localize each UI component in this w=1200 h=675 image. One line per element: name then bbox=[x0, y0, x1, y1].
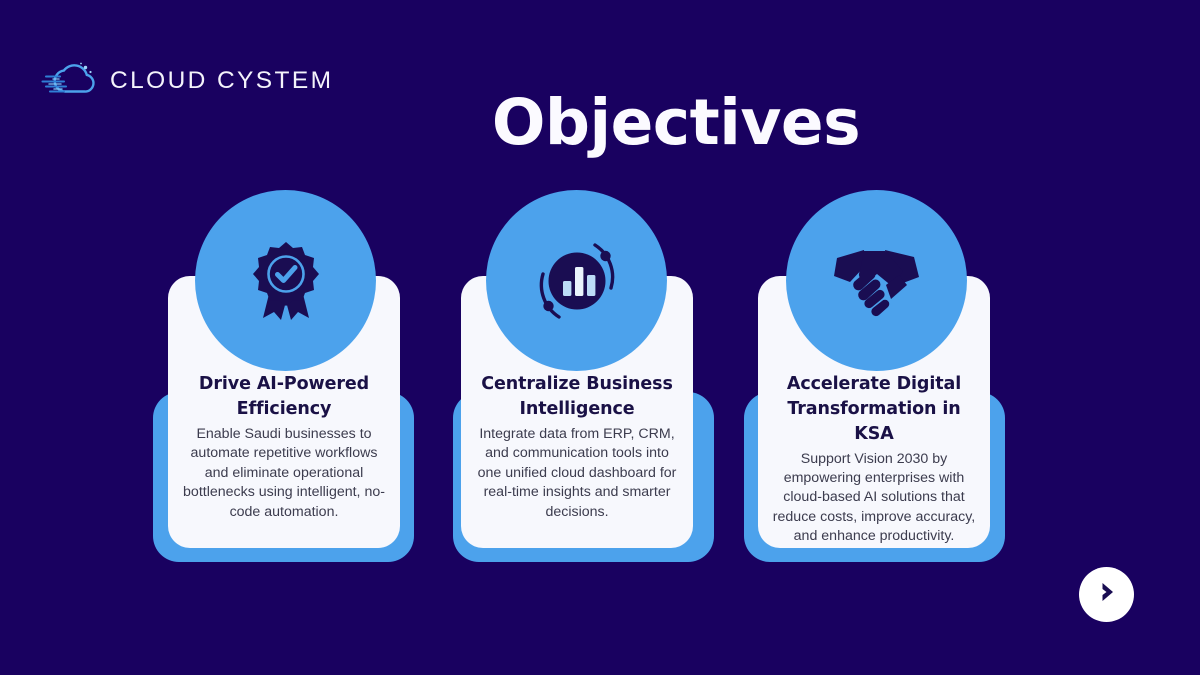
objective-card[interactable]: Drive AI-Powered Efficiency Enable Saudi… bbox=[153, 190, 449, 562]
chevron-right-icon bbox=[1094, 579, 1120, 610]
objective-card[interactable]: Centralize Business Intelligence Integra… bbox=[448, 190, 744, 562]
card-title: Accelerate Digital Transformation in KSA bbox=[771, 372, 977, 447]
objective-card[interactable]: Accelerate Digital Transformation in KSA… bbox=[744, 190, 1040, 562]
slide-canvas: CLOUD CYSTEM Objectives Drive AI-Powered… bbox=[0, 0, 1200, 675]
card-icon-badge bbox=[786, 190, 967, 371]
card-icon-badge bbox=[195, 190, 376, 371]
card-icon-badge bbox=[486, 190, 667, 371]
award-ribbon-icon bbox=[243, 238, 329, 324]
card-title: Centralize Business Intelligence bbox=[474, 372, 680, 422]
next-slide-button[interactable] bbox=[1079, 567, 1134, 622]
card-title: Drive AI-Powered Efficiency bbox=[181, 372, 387, 422]
objectives-card-list: Drive AI-Powered Efficiency Enable Saudi… bbox=[0, 0, 1200, 675]
handshake-icon bbox=[831, 241, 923, 321]
bar-chart-orbit-icon bbox=[532, 236, 622, 326]
card-body: Enable Saudi businesses to automate repe… bbox=[181, 425, 387, 522]
card-body: Support Vision 2030 by empowering enterp… bbox=[771, 450, 977, 547]
card-body: Integrate data from ERP, CRM, and commun… bbox=[474, 425, 680, 522]
